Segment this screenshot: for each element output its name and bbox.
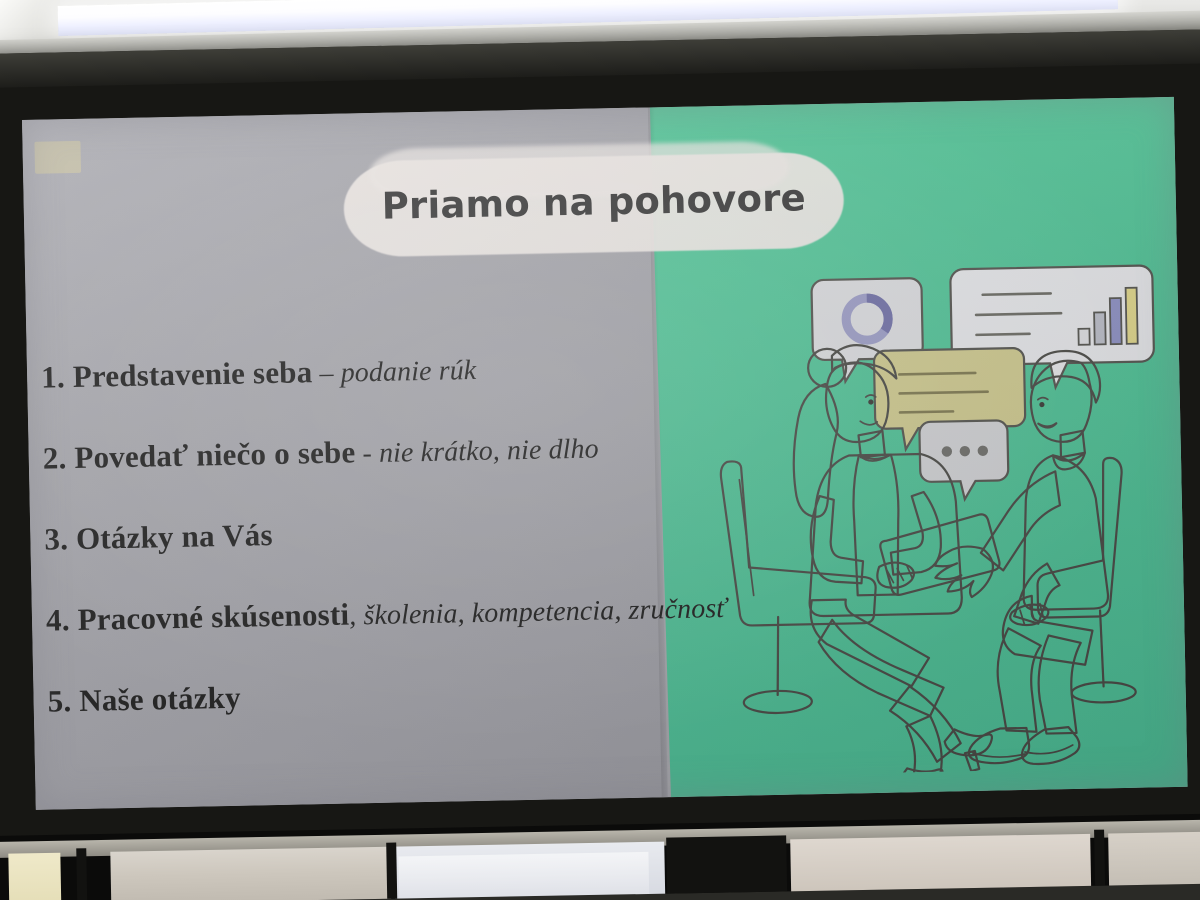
window-pane [790, 834, 1091, 899]
window-pane [1108, 832, 1200, 894]
window-mullion [386, 843, 397, 900]
decorative-corner-square [34, 141, 81, 174]
photo-scene: Priamo na pohovore 1. Predstavenie seba … [0, 0, 1200, 900]
dots-icon [942, 445, 989, 456]
window-pane [8, 853, 61, 900]
bullet-strong: 5. Naše otázky [47, 680, 241, 719]
bullet-strong: 4. Pracovné skúsenosti [46, 597, 350, 638]
window-pane [110, 847, 391, 900]
bullet-strong: 1. Predstavenie seba [41, 354, 313, 394]
typing-dots-bubble [919, 420, 1009, 500]
window-curtain [398, 852, 649, 900]
window-mullion [76, 848, 87, 900]
bullet-emphasis: – podanie rúk [312, 355, 477, 389]
bullet-emphasis: , školenia, kompetencia, zručnosť [349, 593, 727, 632]
window-mullion [1094, 830, 1105, 894]
bullet-strong: 3. Otázky na Vás [44, 517, 273, 557]
presentation-slide: Priamo na pohovore 1. Predstavenie seba … [22, 97, 1188, 810]
bullet-emphasis: - nie krátko, nie dlho [355, 433, 599, 469]
window-mullion [666, 835, 787, 900]
job-interview-illustration: .ln{stroke:#4a4a46;stroke-width:2.2;fill… [705, 257, 1185, 776]
bullet-strong: 2. Povedať niečo o sebe [42, 434, 355, 475]
